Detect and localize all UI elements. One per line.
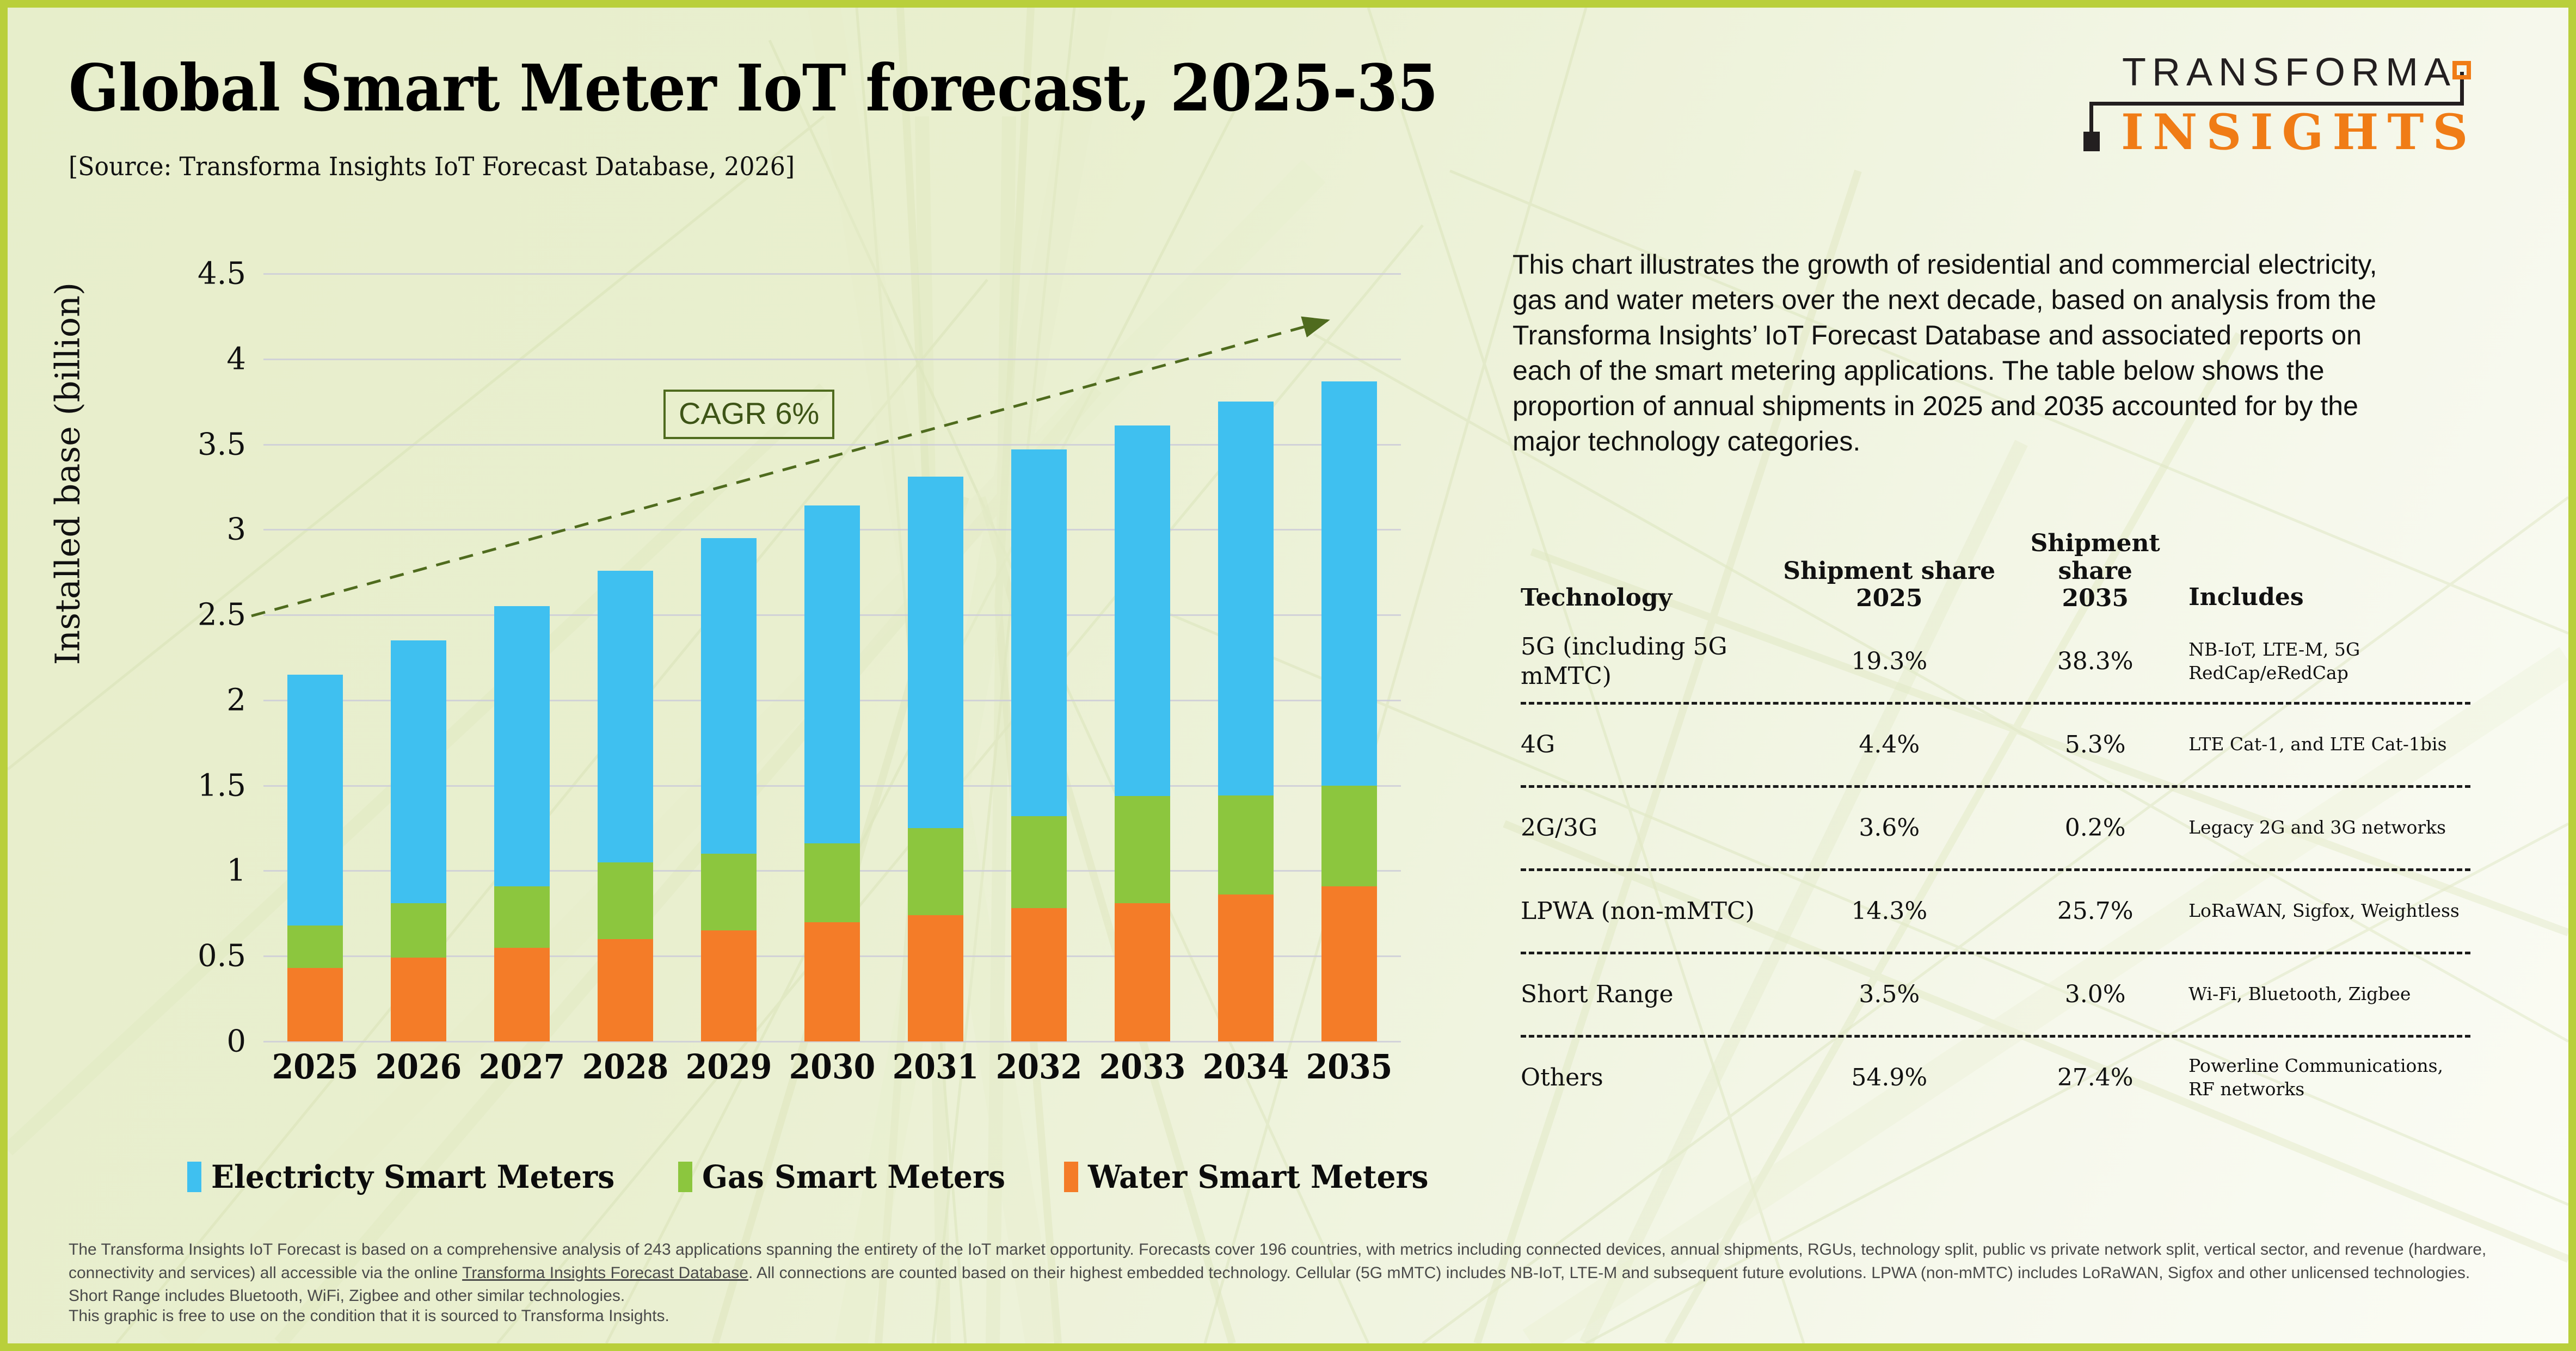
stacked-bar-chart: Installed base (billion) 00.511.522.533.… bbox=[8, 8, 1477, 1150]
cell-technology: 4G bbox=[1521, 730, 1765, 760]
y-axis-tick-label: 2.5 bbox=[83, 597, 246, 633]
cell-share-2025: 3.6% bbox=[1765, 814, 2014, 842]
bar-segment bbox=[1115, 903, 1170, 1041]
bar-segment bbox=[908, 828, 963, 915]
cell-share-2035: 0.2% bbox=[2014, 814, 2177, 842]
technology-share-table: TechnologyShipment share2025Shipment sha… bbox=[1521, 530, 2470, 1118]
legend-label: Gas Smart Meters bbox=[702, 1158, 1005, 1195]
transforma-insights-logo: TRANSFORMA INSIGHTS bbox=[2089, 50, 2509, 153]
bar-segment bbox=[598, 862, 653, 939]
col-header-includes: Includes bbox=[2177, 582, 2470, 613]
bar-segment bbox=[494, 606, 550, 886]
bar-segment bbox=[287, 968, 343, 1041]
bar-segment bbox=[1011, 449, 1067, 816]
bar-segment bbox=[1218, 795, 1274, 895]
y-axis-tick-label: 0.5 bbox=[83, 939, 246, 974]
legend-item: Water Smart Meters bbox=[1064, 1158, 1447, 1195]
bar-segment bbox=[391, 903, 446, 958]
cell-includes: LTE Cat-1, and LTE Cat-1bis bbox=[2177, 733, 2470, 756]
col-header-share-2035: Shipment share2035 bbox=[2014, 530, 2177, 613]
col-header-share-2035-line2: 2035 bbox=[2014, 585, 2177, 613]
bar-segment bbox=[804, 505, 860, 843]
cell-share-2035: 3.0% bbox=[2014, 980, 2177, 1008]
bar-segment bbox=[1218, 895, 1274, 1041]
bar-stack bbox=[1218, 402, 1274, 1041]
bar-segment bbox=[908, 915, 963, 1041]
bar-segment bbox=[287, 675, 343, 926]
y-axis-tick-label: 2 bbox=[83, 682, 246, 718]
footer-note: The Transforma Insights IoT Forecast is … bbox=[69, 1238, 2501, 1308]
logo-wordmark-transforma: TRANSFORMA bbox=[2122, 50, 2456, 95]
cell-technology: LPWA (non-mMTC) bbox=[1521, 897, 1765, 926]
bar-segment bbox=[701, 538, 757, 854]
table-header-row: TechnologyShipment share2025Shipment sha… bbox=[1521, 530, 2470, 621]
bar-segment bbox=[1218, 402, 1274, 795]
table-row: LPWA (non-mMTC)14.3%25.7%LoRaWAN, Sigfox… bbox=[1521, 871, 2470, 952]
cell-share-2035: 27.4% bbox=[2014, 1064, 2177, 1091]
gridline bbox=[263, 359, 1401, 360]
legend-label: Water Smart Meters bbox=[1088, 1158, 1429, 1195]
footer-usage-note: This graphic is free to use on the condi… bbox=[69, 1307, 2501, 1325]
logo-left-stem bbox=[2089, 102, 2093, 135]
col-header-share-2025-line2: 2025 bbox=[1765, 585, 2014, 613]
cell-includes: Wi-Fi, Bluetooth, Zigbee bbox=[2177, 983, 2470, 1006]
bar-segment bbox=[1321, 786, 1377, 886]
x-axis-tick-label: 2035 bbox=[1284, 1047, 1414, 1087]
cell-share-2025: 54.9% bbox=[1765, 1064, 2014, 1091]
bar-stack bbox=[908, 477, 963, 1041]
bar-stack bbox=[598, 571, 653, 1041]
intro-paragraph: This chart illustrates the growth of res… bbox=[1513, 247, 2427, 459]
bar-segment bbox=[494, 886, 550, 948]
bar-segment bbox=[908, 477, 963, 828]
y-axis-tick-label: 3.5 bbox=[83, 427, 246, 462]
table-row: Short Range3.5%3.0%Wi-Fi, Bluetooth, Zig… bbox=[1521, 954, 2470, 1035]
bar-segment bbox=[287, 926, 343, 968]
cell-share-2025: 3.5% bbox=[1765, 980, 2014, 1008]
logo-wordmark-insights: INSIGHTS bbox=[2121, 103, 2476, 161]
cell-share-2025: 4.4% bbox=[1765, 731, 2014, 758]
cell-share-2035: 25.7% bbox=[2014, 897, 2177, 925]
table-row: 2G/3G3.6%0.2%Legacy 2G and 3G networks bbox=[1521, 788, 2470, 868]
table-row: 4G4.4%5.3%LTE Cat-1, and LTE Cat-1bis bbox=[1521, 705, 2470, 785]
plot-area bbox=[263, 8, 1401, 1150]
bar-segment bbox=[598, 571, 653, 862]
chart-legend: Electricty Smart MetersGas Smart MetersW… bbox=[187, 1158, 1446, 1195]
col-header-technology: Technology bbox=[1521, 583, 1765, 613]
y-axis-ticks: 00.511.522.533.544.5 bbox=[73, 8, 247, 1150]
bar-stack bbox=[287, 675, 343, 1041]
bar-segment bbox=[804, 922, 860, 1041]
col-header-share-2025-line1: Shipment share bbox=[1765, 558, 2014, 585]
bar-segment bbox=[1011, 816, 1067, 908]
cell-technology: 5G (including 5G mMTC) bbox=[1521, 632, 1765, 690]
cagr-annotation: CAGR 6% bbox=[663, 390, 834, 439]
legend-item: Electricty Smart Meters bbox=[187, 1158, 636, 1195]
col-header-share-2035-line1: Shipment share bbox=[2014, 530, 2177, 585]
cell-includes: NB-IoT, LTE-M, 5G RedCap/eRedCap bbox=[2177, 638, 2470, 685]
cell-includes: LoRaWAN, Sigfox, Weightless bbox=[2177, 899, 2470, 923]
cell-technology: Short Range bbox=[1521, 980, 1765, 1009]
bar-stack bbox=[701, 538, 757, 1041]
cell-technology: Others bbox=[1521, 1063, 1765, 1093]
bar-stack bbox=[1321, 381, 1377, 1041]
infographic-poster: Global Smart Meter IoT forecast, 2025-35… bbox=[8, 8, 2568, 1343]
cell-share-2035: 5.3% bbox=[2014, 731, 2177, 758]
bar-segment bbox=[1321, 886, 1377, 1041]
bar-segment bbox=[391, 958, 446, 1041]
legend-swatch-icon bbox=[678, 1162, 692, 1192]
y-axis-tick-label: 4.5 bbox=[83, 256, 246, 292]
legend-label: Electricty Smart Meters bbox=[211, 1158, 614, 1195]
gridline bbox=[263, 273, 1401, 275]
bar-stack bbox=[804, 505, 860, 1041]
cell-share-2025: 14.3% bbox=[1765, 897, 2014, 925]
bar-segment bbox=[391, 640, 446, 903]
bar-segment bbox=[494, 948, 550, 1041]
legend-swatch-icon bbox=[1064, 1162, 1078, 1192]
col-header-share-2025: Shipment share2025 bbox=[1765, 558, 2014, 613]
cell-includes: Powerline Communications, RF networks bbox=[2177, 1054, 2470, 1101]
legend-item: Gas Smart Meters bbox=[678, 1158, 1021, 1195]
bar-segment bbox=[701, 854, 757, 930]
bar-segment bbox=[701, 930, 757, 1041]
legend-swatch-icon bbox=[187, 1162, 201, 1192]
y-axis-tick-label: 4 bbox=[83, 341, 246, 377]
bar-stack bbox=[1011, 449, 1067, 1041]
bar-segment bbox=[1321, 381, 1377, 786]
y-axis-tick-label: 3 bbox=[83, 512, 246, 547]
bar-stack bbox=[391, 640, 446, 1041]
table-row: Others54.9%27.4%Powerline Communications… bbox=[1521, 1038, 2470, 1118]
cell-includes: Legacy 2G and 3G networks bbox=[2177, 816, 2470, 840]
bar-segment bbox=[1115, 796, 1170, 904]
y-axis-tick-label: 1.5 bbox=[83, 768, 246, 803]
cell-technology: 2G/3G bbox=[1521, 813, 1765, 843]
y-axis-tick-label: 0 bbox=[83, 1024, 246, 1059]
bar-segment bbox=[1115, 425, 1170, 795]
bar-stack bbox=[494, 606, 550, 1041]
forecast-database-link[interactable]: Transforma Insights Forecast Database bbox=[462, 1264, 748, 1282]
cell-share-2025: 19.3% bbox=[1765, 647, 2014, 675]
bar-stack bbox=[1115, 425, 1170, 1041]
table-row: 5G (including 5G mMTC)19.3%38.3%NB-IoT, … bbox=[1521, 621, 2470, 702]
cell-share-2035: 38.3% bbox=[2014, 647, 2177, 675]
y-axis-tick-label: 1 bbox=[83, 853, 246, 889]
bar-segment bbox=[598, 939, 653, 1041]
bar-segment bbox=[804, 843, 860, 922]
logo-black-square-icon bbox=[2083, 132, 2100, 151]
bar-segment bbox=[1011, 908, 1067, 1041]
